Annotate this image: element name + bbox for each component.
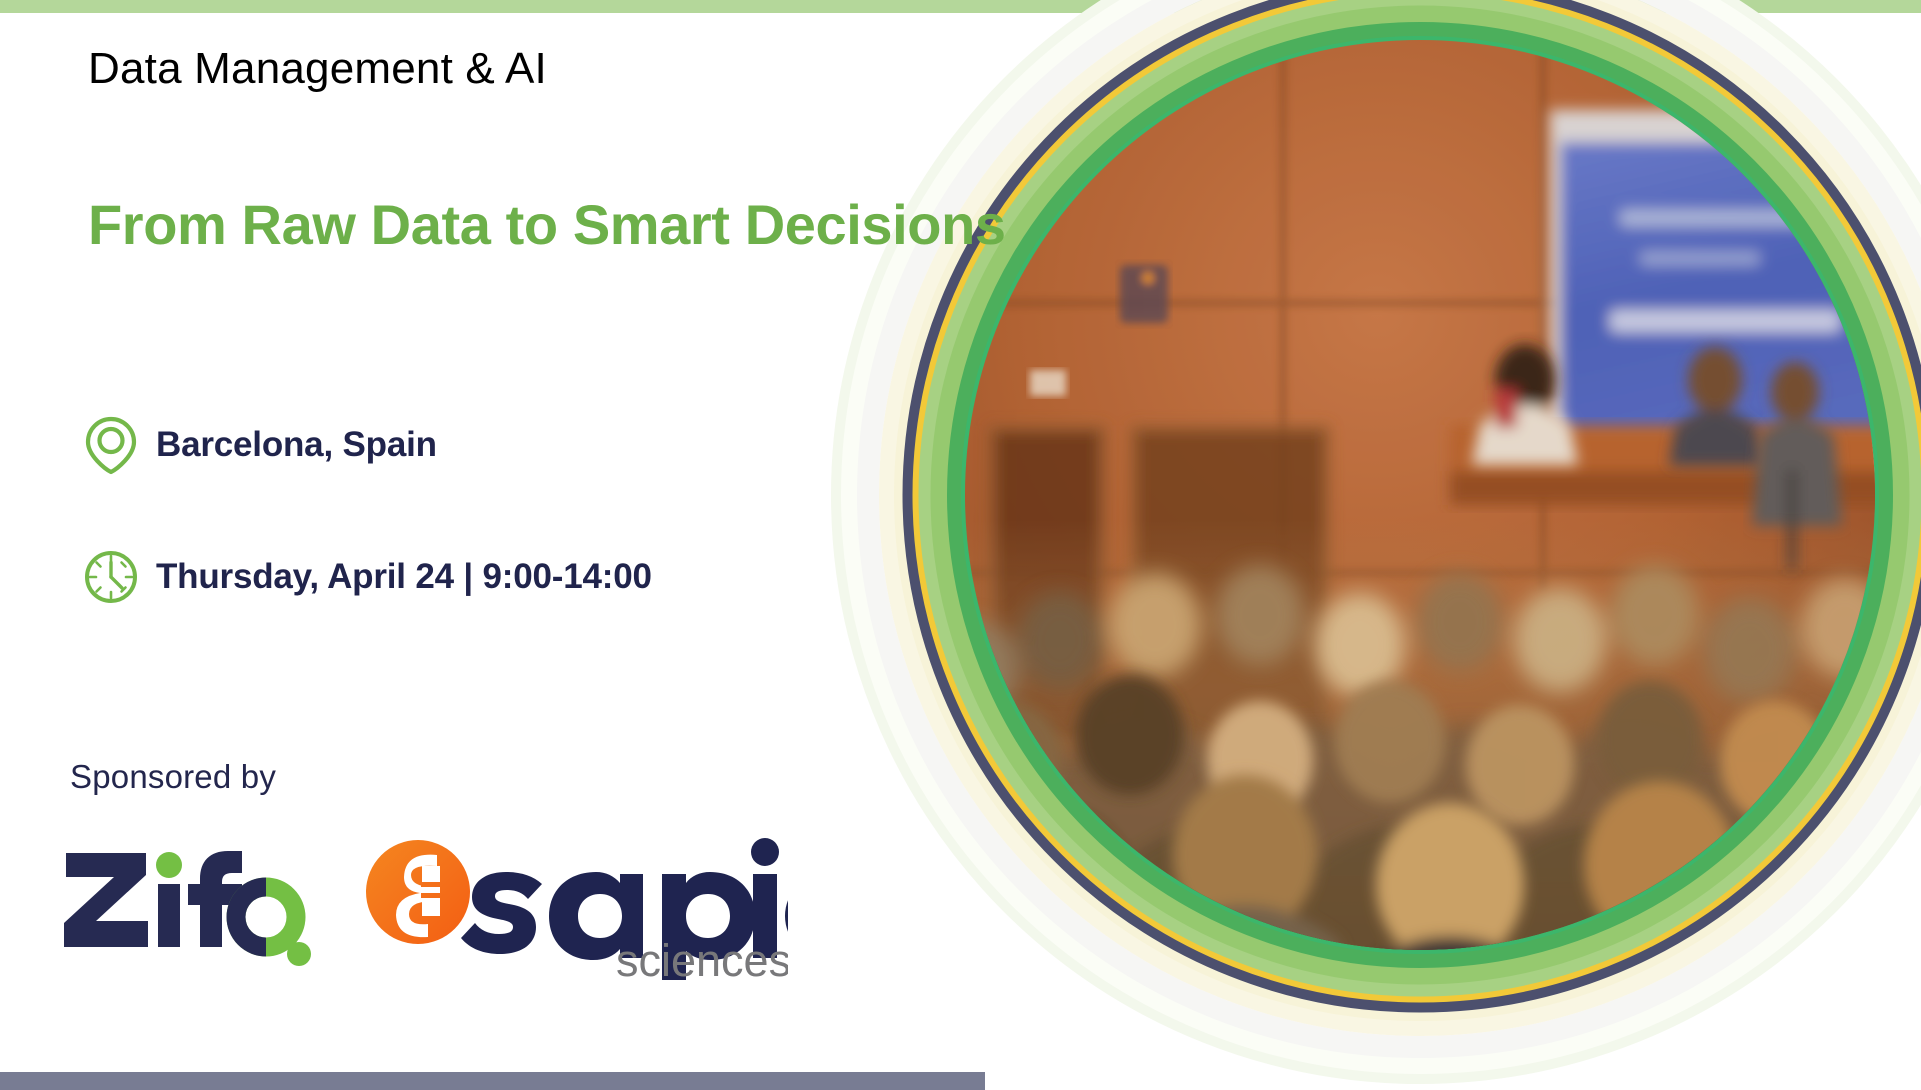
banner-content: Data Management & AI From Raw Data to Sm…	[0, 0, 900, 1090]
event-location-label: Barcelona, Spain	[156, 425, 437, 465]
sponsor-logos: sciences	[60, 830, 788, 980]
sapio-subtitle: sciences	[616, 935, 788, 980]
sapio-sciences-logo: sciences	[358, 830, 788, 980]
sponsored-by-label: Sponsored by	[70, 758, 276, 796]
event-datetime-label: Thursday, April 24 | 9:00-14:00	[156, 557, 652, 597]
map-pin-icon	[80, 414, 142, 476]
zifo-logo	[60, 837, 312, 973]
event-datetime-row: Thursday, April 24 | 9:00-14:00	[80, 540, 840, 614]
event-location-row: Barcelona, Spain	[80, 408, 840, 482]
bottom-accent-bar	[0, 1072, 985, 1090]
kicker-text: Data Management & AI	[88, 44, 547, 94]
page-title: From Raw Data to Smart Decisions	[88, 196, 1006, 255]
event-details-list: Barcelona, Spain	[80, 408, 840, 672]
clock-icon	[80, 546, 142, 608]
artwork-ring-photo	[760, 0, 1921, 1090]
event-banner: Data Management & AI From Raw Data to Sm…	[0, 0, 1921, 1090]
